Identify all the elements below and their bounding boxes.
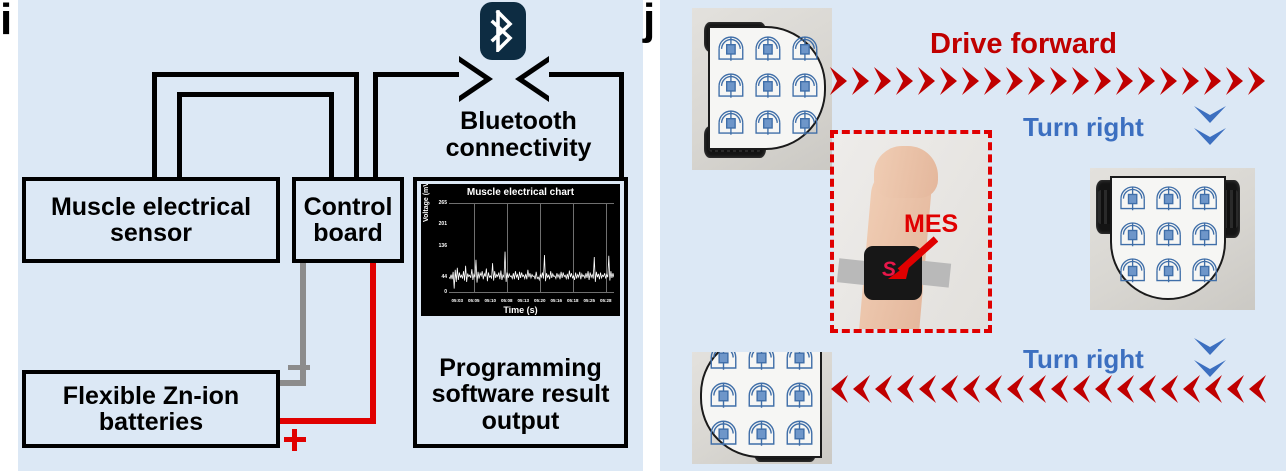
- negative-sign-marker: [288, 365, 310, 370]
- chevron-right-icon: [1048, 66, 1070, 96]
- battery-emblem-icon: [751, 69, 785, 103]
- chevron-right-icon: [872, 66, 894, 96]
- battery-emblem-icon: [751, 106, 785, 140]
- chart-ytick-label: 44: [425, 274, 447, 280]
- chart-xlabel: Time (s): [421, 305, 620, 315]
- chevron-right-icon: [960, 66, 982, 96]
- chart-xtick-label: 05:16: [550, 298, 562, 303]
- car-chassis-emblem: [1116, 182, 1149, 220]
- chevron-right-icon: [1070, 66, 1092, 96]
- battery-emblem-icon: [1152, 182, 1185, 215]
- block-label: Muscle electrical sensor: [26, 194, 276, 247]
- car-chassis-emblem: [1116, 254, 1149, 292]
- car-chassis-emblem: [744, 416, 779, 456]
- photo-robot-car-bottom-left: [692, 352, 832, 464]
- chevron-right-icon: [1224, 66, 1246, 96]
- wire-control-to-bluetooth-tx-vert: [373, 72, 378, 180]
- chevron-down-icon: [1193, 104, 1227, 126]
- chevron-right-icon: [1026, 66, 1048, 96]
- panel-letter-i: i: [0, 0, 12, 42]
- car-chassis-emblem: [706, 378, 741, 418]
- chevron-right-icon: [1158, 66, 1180, 96]
- chart-ytick-label: 136: [425, 243, 447, 249]
- car-chassis-emblem: [1152, 218, 1185, 256]
- chart-xtick-label: 05:03: [451, 298, 463, 303]
- battery-emblem-icon: [744, 378, 779, 413]
- chevron-right-icon: [1092, 66, 1114, 96]
- block-muscle-electrical-sensor: Muscle electrical sensor: [22, 177, 280, 263]
- car-chassis-emblem: [1188, 254, 1221, 292]
- battery-emblem-icon: [706, 378, 741, 413]
- battery-emblem-icon: [1188, 254, 1221, 287]
- car-chassis-emblem: [1152, 182, 1185, 220]
- chevron-column-down-2: [1193, 336, 1227, 380]
- car-chassis-emblem: [714, 106, 748, 145]
- car-chassis-emblem: [751, 106, 785, 145]
- chart-xtick-label: 05:08: [501, 298, 513, 303]
- block-label: Programming software result output: [417, 355, 624, 435]
- chart-plot-area: 04413620126505:0305:0505:1005:0805:1305:…: [449, 203, 614, 292]
- battery-emblem-icon: [782, 378, 817, 413]
- chart-xtick-label: 05:28: [600, 298, 612, 303]
- wire-battery-positive-vert: [370, 263, 376, 423]
- battery-emblem-icon: [714, 32, 748, 66]
- chevron-down-icon: [1193, 126, 1227, 148]
- battery-emblem-icon: [706, 416, 741, 451]
- chart-emg-trace: [449, 203, 614, 292]
- chevron-row-forward: [828, 66, 1268, 96]
- chevron-right-icon: [828, 66, 850, 96]
- car-chassis-emblem: [706, 352, 741, 380]
- battery-emblem-icon: [782, 352, 817, 375]
- chevron-left-icon: [938, 374, 960, 404]
- chart-ytick-label: 0: [425, 289, 447, 295]
- battery-emblem-icon: [1188, 182, 1221, 215]
- wire-sensor-control-inner-right: [329, 92, 334, 180]
- car-chassis-emblem: [714, 69, 748, 108]
- battery-emblem-icon: [714, 106, 748, 140]
- battery-emblem-icon: [788, 106, 822, 140]
- car-chassis-emblem: [788, 106, 822, 145]
- chevron-left-icon: [894, 374, 916, 404]
- chevron-left-icon: [1092, 374, 1114, 404]
- chart-xtick-label: 05:10: [484, 298, 496, 303]
- battery-emblem-icon: [744, 352, 779, 375]
- battery-emblem-icon: [714, 69, 748, 103]
- chevron-down-icon: [1193, 358, 1227, 380]
- chevron-column-down-1: [1193, 104, 1227, 148]
- chevron-right-icon: [982, 66, 1004, 96]
- car-chassis-emblem: [788, 32, 822, 71]
- wire-control-to-bluetooth-tx-horiz: [373, 72, 463, 77]
- chart-xtick-label: 05:18: [567, 298, 579, 303]
- chevron-left-icon: [1158, 374, 1180, 404]
- chevron-left-icon: [850, 374, 872, 404]
- photo-robot-car-top-left: [692, 8, 832, 170]
- car-chassis-emblem: [788, 69, 822, 108]
- chevron-right-icon: [938, 66, 960, 96]
- car-chassis-emblem: [1188, 182, 1221, 220]
- chevron-right-icon: [1180, 66, 1202, 96]
- chevron-right-icon: [1246, 66, 1268, 96]
- battery-emblem-icon: [1116, 182, 1149, 215]
- car-chassis: [1110, 176, 1226, 300]
- car-chassis: [700, 352, 822, 458]
- panel-letter-j: j: [643, 0, 655, 42]
- car-chassis-emblem: [714, 32, 748, 71]
- chevron-left-icon: [872, 374, 894, 404]
- car-chassis-emblem: [782, 378, 817, 418]
- chevron-left-icon: [960, 374, 982, 404]
- block-control-board: Control board: [292, 177, 404, 263]
- battery-emblem-icon: [1116, 218, 1149, 251]
- car-chassis-emblem: [1152, 254, 1185, 292]
- car-chassis-emblem: [706, 416, 741, 456]
- chevron-left-icon: [1070, 374, 1092, 404]
- mes-arrow-icon: [884, 235, 938, 281]
- chart-gridline-horizontal: [449, 292, 614, 293]
- wire-battery-positive-horiz: [276, 418, 376, 424]
- chart-ytick-label: 265: [425, 200, 447, 206]
- chart-xtick-label: 05:13: [517, 298, 529, 303]
- chevron-right-icon: [1114, 66, 1136, 96]
- chart-xtick-label: 05:20: [534, 298, 546, 303]
- wire-bluetooth-rx-to-output-horiz: [546, 72, 624, 77]
- wire-sensor-control-inner-top: [177, 92, 334, 97]
- chevron-left-icon: [1114, 374, 1136, 404]
- battery-emblem-icon: [782, 416, 817, 451]
- chevron-left-icon: [1048, 374, 1070, 404]
- positive-sign-marker-v: [292, 429, 297, 451]
- block-label: Flexible Zn-ion batteries: [26, 383, 276, 436]
- command-turn-right-label-2: Turn right: [1023, 344, 1144, 375]
- car-chassis-emblem: [744, 378, 779, 418]
- battery-emblem-icon: [706, 352, 741, 375]
- chevron-right-icon: [1136, 66, 1158, 96]
- chevron-down-icon: [1193, 336, 1227, 358]
- chevron-left-icon: [1246, 374, 1268, 404]
- chevron-right-icon: [850, 66, 872, 96]
- chevron-left-icon: [982, 374, 1004, 404]
- battery-emblem-icon: [744, 416, 779, 451]
- car-chassis-emblem: [744, 352, 779, 380]
- chevron-left-icon: [1136, 374, 1158, 404]
- chevron-left-icon: [916, 374, 938, 404]
- car-chassis-emblem: [782, 352, 817, 380]
- antenna-triangle-left-icon: [459, 56, 493, 102]
- car-chassis-emblem: [1116, 218, 1149, 256]
- bluetooth-connectivity-label: Bluetooth connectivity: [406, 108, 631, 161]
- chevron-right-icon: [1004, 66, 1026, 96]
- car-chassis-emblem: [1188, 218, 1221, 256]
- chevron-right-icon: [894, 66, 916, 96]
- antenna-triangle-right-icon: [515, 56, 549, 102]
- photo-robot-car-right: [1090, 168, 1255, 310]
- block-label: Control board: [296, 194, 400, 247]
- car-chassis-emblem: [782, 416, 817, 456]
- battery-emblem-icon: [1152, 218, 1185, 251]
- battery-emblem-icon: [788, 32, 822, 66]
- wire-sensor-control-inner-left: [177, 92, 182, 180]
- chart-title: Muscle electrical chart: [421, 187, 620, 198]
- chevron-right-icon: [1202, 66, 1224, 96]
- wire-sensor-control-outer-right: [354, 72, 359, 180]
- chart-ytick-label: 201: [425, 221, 447, 227]
- chevron-left-icon: [828, 374, 850, 404]
- car-chassis-emblem: [751, 69, 785, 108]
- battery-emblem-icon: [1152, 254, 1185, 287]
- chevron-right-icon: [916, 66, 938, 96]
- battery-emblem-icon: [788, 69, 822, 103]
- chevron-left-icon: [1224, 374, 1246, 404]
- command-drive-forward-label: Drive forward: [930, 28, 1117, 61]
- bluetooth-icon: [480, 2, 526, 60]
- command-turn-right-label-1: Turn right: [1023, 112, 1144, 143]
- battery-emblem-icon: [1116, 254, 1149, 287]
- chart-xtick-label: 05:25: [583, 298, 595, 303]
- car-chassis: [708, 26, 826, 150]
- chevron-left-icon: [1004, 374, 1026, 404]
- wire-sensor-control-outer-left: [152, 72, 157, 180]
- wire-sensor-control-outer-top: [152, 72, 359, 77]
- battery-emblem-icon: [751, 32, 785, 66]
- block-flexible-zn-ion-batteries: Flexible Zn-ion batteries: [22, 370, 280, 448]
- muscle-electrical-chart: Muscle electrical chart Voltage (mV) 044…: [421, 184, 620, 316]
- battery-emblem-icon: [1188, 218, 1221, 251]
- fist: [874, 146, 938, 198]
- chart-xtick-label: 05:05: [468, 298, 480, 303]
- chevron-left-icon: [1026, 374, 1048, 404]
- car-chassis-emblem: [751, 32, 785, 71]
